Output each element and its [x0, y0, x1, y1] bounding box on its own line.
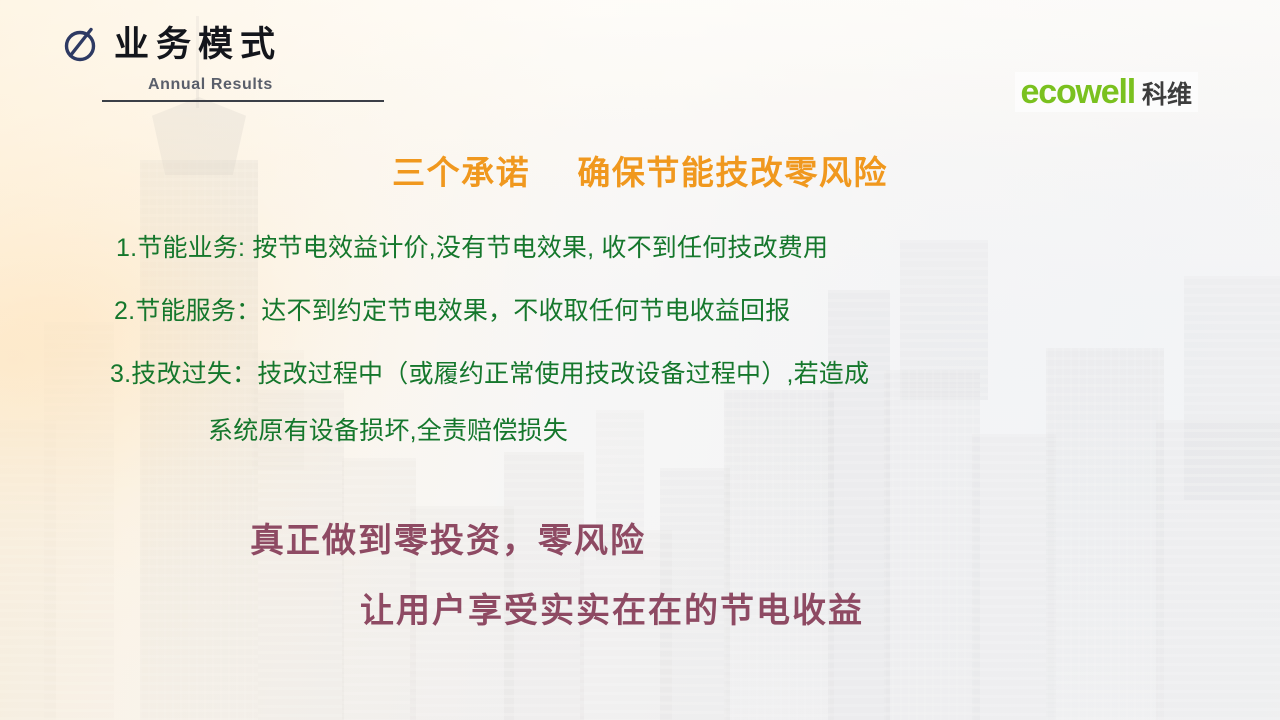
- page-title: 业务模式: [114, 27, 282, 62]
- list-item: 1.节能业务: 按节电效益计价,没有节电效果, 收不到任何技改费用: [116, 236, 1280, 261]
- headline-part-1: 三个承诺: [392, 154, 530, 191]
- list-item: 3.技改过失：技改过程中（或履约正常使用技改设备过程中）,若造成: [110, 362, 1280, 387]
- slide-canvas: 业务模式 Annual Results ecowell 科维 三个承诺 确保节能…: [0, 0, 1280, 720]
- brand-logo: ecowell 科维: [1015, 72, 1198, 112]
- page-subtitle: Annual Results: [148, 76, 482, 94]
- headline: 三个承诺 确保节能技改零风险: [0, 146, 1280, 194]
- list-item: 2.节能服务：达不到约定节电效果，不收取任何节电收益回报: [114, 299, 1280, 324]
- commitment-list: 1.节能业务: 按节电效益计价,没有节电效果, 收不到任何技改费用 2.节能服务…: [0, 236, 1280, 444]
- brand-name-zh: 科维: [1142, 83, 1192, 108]
- header-divider: [102, 100, 384, 102]
- slide-header: 业务模式 Annual Results: [62, 24, 482, 102]
- slashed-circle-icon: [62, 24, 100, 64]
- conclusion-block: 真正做到零投资，零风险 让用户享受实实在在的节电收益: [0, 524, 1280, 628]
- conclusion-line: 真正做到零投资，零风险: [250, 524, 1280, 558]
- conclusion-line: 让用户享受实实在在的节电收益: [360, 594, 1280, 628]
- brand-name-en: ecowell: [1021, 75, 1135, 109]
- list-item-continuation: 系统原有设备损坏,全责赔偿损失: [208, 419, 1280, 444]
- headline-part-2: 确保节能技改零风险: [577, 154, 888, 191]
